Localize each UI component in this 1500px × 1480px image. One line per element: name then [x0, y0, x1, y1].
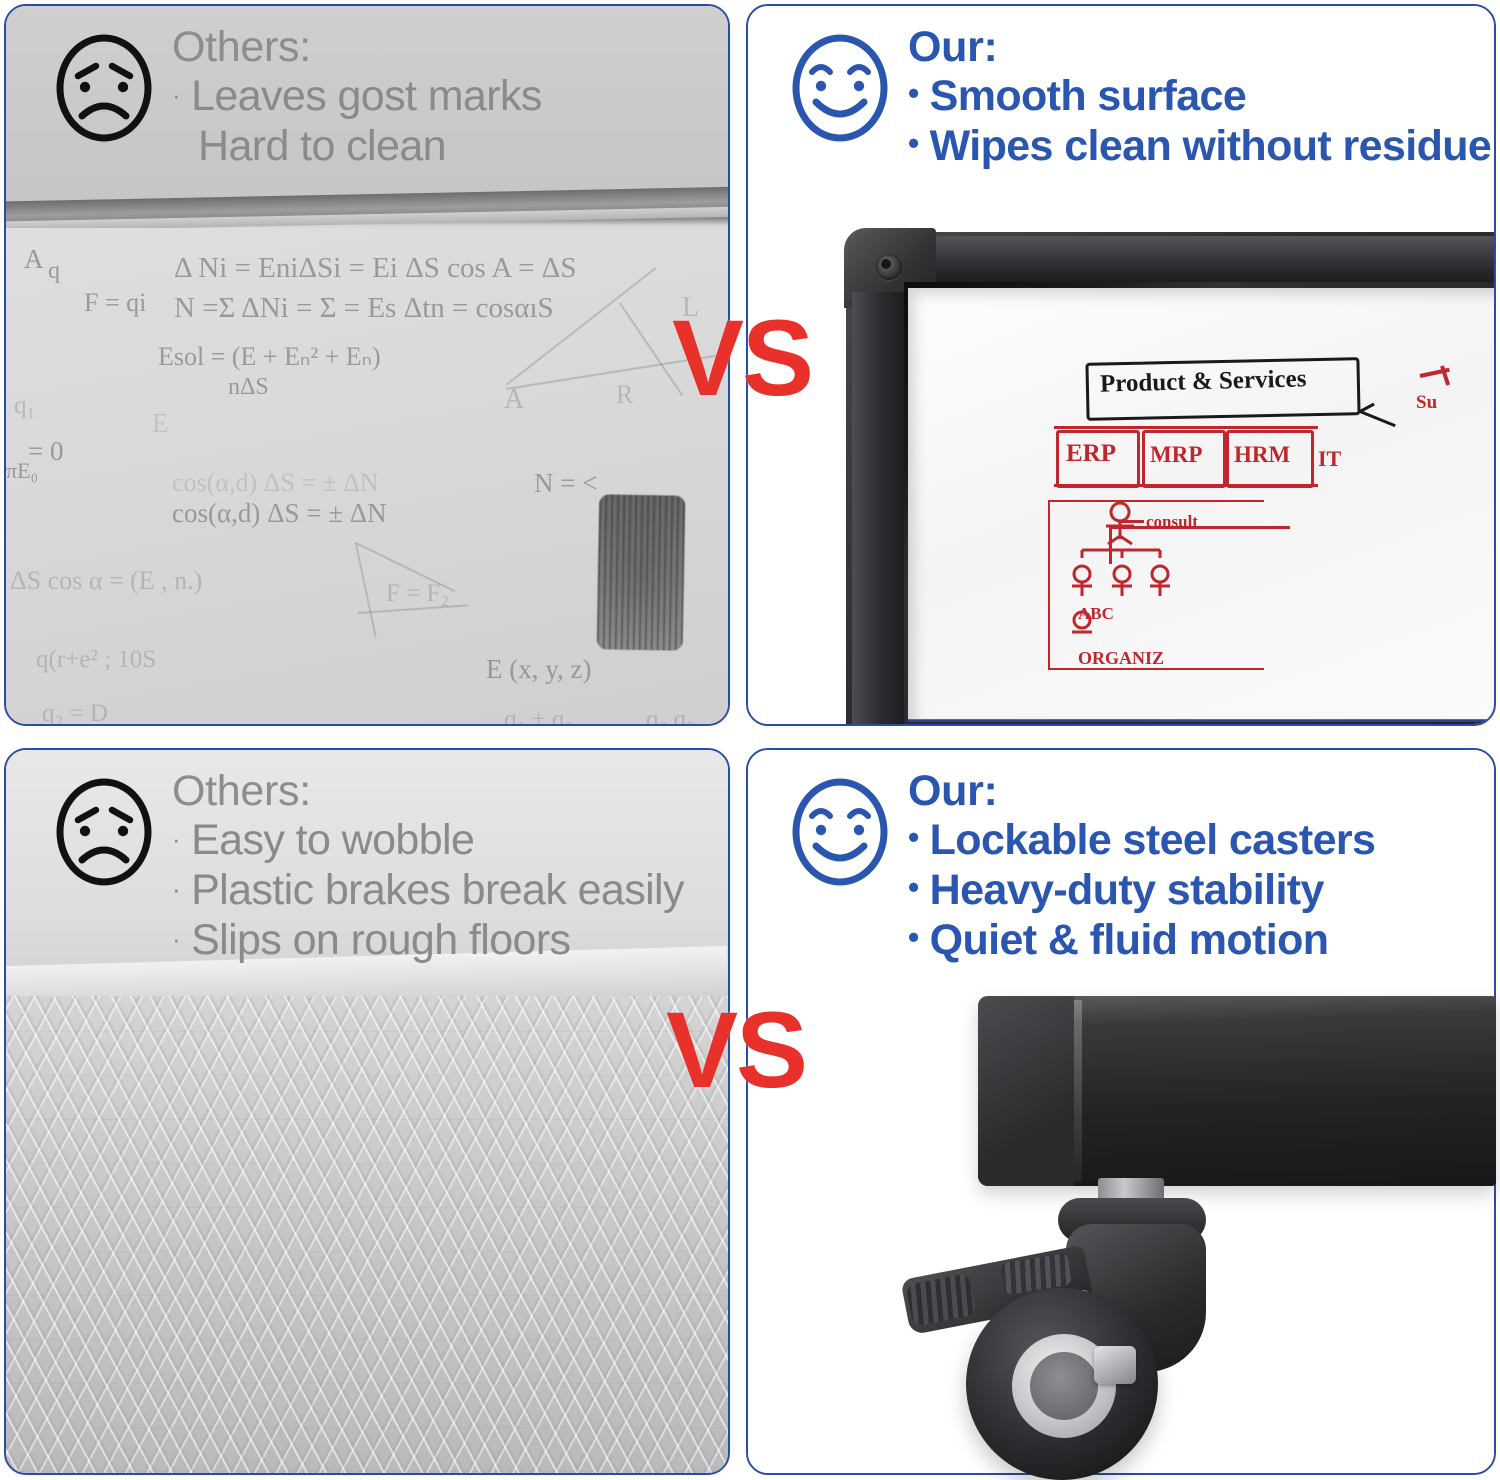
corner-screw-icon — [876, 254, 902, 280]
puzzle-label: ERP — [1066, 440, 1116, 468]
caption-others-casters: Others: · Easy to wobble · Plastic brake… — [6, 750, 728, 966]
caption-text-block: Others: · Leaves gost marks Hard to clea… — [172, 24, 714, 172]
steel-beam-highlight — [1074, 1000, 1082, 1182]
bullet-marker: · — [172, 82, 180, 108]
vs-badge-bottom: VS — [666, 996, 806, 1104]
comparison-infographic: A q F = qi Δ Ni = EniΔSi = Ei ΔS cos A =… — [0, 0, 1500, 1479]
list-item: • Wipes clean without residue — [908, 122, 1480, 172]
bullet-marker: • — [908, 921, 919, 953]
panel-top-left-others: A q F = qi Δ Ni = EniΔSi = Ei ΔS cos A =… — [4, 4, 730, 726]
whiteboard-title-text: Product & Services — [1100, 365, 1307, 398]
bullet-text: Plastic brakes break easily — [191, 866, 684, 916]
ghost-equation: E — [152, 408, 169, 439]
happy-face-icon — [788, 774, 892, 895]
bullet-text: Slips on rough floors — [191, 916, 570, 966]
ghost-equation: q — [48, 258, 60, 285]
caption-text-block: Others: · Easy to wobble · Plastic brake… — [172, 768, 714, 966]
bullet-text: Heavy-duty stability — [930, 866, 1324, 916]
puzzle-label: MRP — [1150, 442, 1202, 468]
ghost-equation: πE₀ — [6, 458, 38, 484]
bullet-text: Leaves gost marks — [191, 72, 542, 122]
puzzle-label: HRM — [1234, 442, 1290, 468]
ghost-equation: q₂ q₂ — [646, 706, 695, 726]
bullet-text: Wipes clean without residue — [930, 122, 1492, 172]
caption-title: Our: — [908, 24, 1480, 70]
ghost-equation: ΔS cos α = (E , n.) — [10, 566, 202, 596]
ghost-equation: cos(α,d) ΔS = ± ΔN — [172, 498, 387, 529]
ghost-equation: N =Σ ΔNi = Σ = Es Δtn = cosαıS — [174, 292, 554, 325]
caption-bullet-list: • Lockable steel casters • Heavy-duty st… — [908, 816, 1480, 966]
caption-text-block: Our: • Lockable steel casters • Heavy-du… — [908, 768, 1480, 966]
ghost-equation: Esol = (E + Eₙ² + Eₙ) — [158, 342, 381, 372]
panel-top-right-ours: Product & Services Su ERP MRP HRM IT con… — [746, 4, 1496, 726]
bullet-marker: • — [908, 871, 919, 903]
wheel-axle-bolt — [1094, 1346, 1136, 1384]
vs-badge-top: VS — [672, 304, 812, 412]
list-item: • Quiet & fluid motion — [908, 916, 1480, 966]
steel-beam-end-face — [978, 996, 1074, 1186]
ghost-equation: q₂ = D — [42, 700, 108, 726]
caption-others-surface: Others: · Leaves gost marks Hard to clea… — [6, 6, 728, 172]
caption-title: Others: — [172, 768, 714, 814]
bullet-text: Lockable steel casters — [930, 816, 1376, 866]
whiteboard-side-rail — [852, 292, 904, 726]
bullet-text: Quiet & fluid motion — [930, 916, 1329, 966]
list-item: · Leaves gost marks — [172, 72, 714, 122]
caption-title: Others: — [172, 24, 714, 70]
caption-bullet-list: · Leaves gost marks Hard to clean — [172, 72, 714, 172]
whiteboard-top-rail — [934, 236, 1496, 282]
ghost-equation: F = qi — [84, 288, 146, 318]
ghost-equation: E (x, y, z) — [486, 654, 591, 685]
bullet-text: Smooth surface — [930, 72, 1247, 122]
panel-bottom-left-others: Others: · Easy to wobble · Plastic brake… — [4, 748, 730, 1475]
wheel-hub-inner — [1030, 1352, 1098, 1420]
ghost-equation: N = < — [534, 468, 597, 499]
ghost-equation: cos(α,d) ΔS = ± ΔN — [172, 468, 379, 498]
list-item: · Plastic brakes break easily — [172, 866, 714, 916]
caption-bullet-list: · Easy to wobble · Plastic brakes break … — [172, 816, 714, 966]
list-item: · Slips on rough floors — [172, 916, 714, 966]
ghost-equation: q(r+e² ; 10S — [36, 646, 156, 674]
caption-text-block: Our: • Smooth surface • Wipes clean with… — [908, 24, 1480, 172]
ghost-equation: q₁ — [14, 392, 35, 420]
ghost-equation: Δ Ni = EniΔSi = Ei ΔS cos A = ΔS — [174, 252, 576, 285]
list-item: • Smooth surface — [908, 72, 1480, 122]
ghost-equation: R — [616, 380, 633, 410]
sad-face-icon — [52, 30, 156, 151]
list-item: • Lockable steel casters — [908, 816, 1480, 866]
whiteboard-bottom-edge — [908, 719, 1496, 722]
caption-title: Our: — [908, 768, 1480, 814]
bullet-marker: · — [172, 876, 180, 902]
red-underline — [1054, 484, 1318, 487]
caption-ours-surface: Our: • Smooth surface • Wipes clean with… — [748, 6, 1494, 172]
ghost-equation: A — [24, 244, 44, 275]
sad-face-icon — [52, 774, 156, 895]
caption-ours-casters: Our: • Lockable steel casters • Heavy-du… — [748, 750, 1494, 966]
list-item: Hard to clean — [172, 122, 714, 172]
org-chart-figures — [1048, 496, 1278, 671]
caption-bullet-list: • Smooth surface • Wipes clean without r… — [908, 72, 1480, 172]
bullet-text: Easy to wobble — [191, 816, 474, 866]
bullet-marker: • — [908, 127, 919, 159]
bullet-marker: • — [908, 821, 919, 853]
list-item: • Heavy-duty stability — [908, 866, 1480, 916]
ghost-smudge-mark — [597, 494, 686, 650]
wood-floor — [4, 996, 730, 1475]
red-small-annotation: Su — [1416, 392, 1437, 414]
ghost-equation: q₁ + q₂ — [504, 706, 573, 726]
ghost-equation: nΔS — [228, 374, 269, 401]
red-underline — [1054, 426, 1318, 429]
bullet-text: Hard to clean — [198, 122, 446, 172]
list-item: · Easy to wobble — [172, 816, 714, 866]
bullet-marker: · — [172, 826, 180, 852]
happy-face-icon — [788, 30, 892, 151]
bullet-marker: • — [908, 77, 919, 109]
it-label: IT — [1318, 446, 1341, 472]
bullet-marker: · — [172, 926, 180, 952]
